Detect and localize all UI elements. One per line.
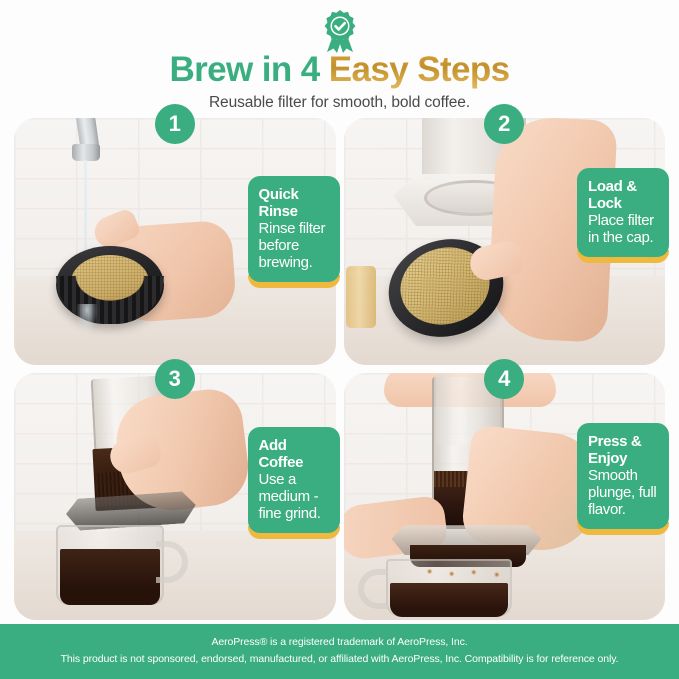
step-caption-4: Press & Enjoy Smooth plunge, full flavor… <box>577 423 669 535</box>
trademark-line: AeroPress® is a registered trademark of … <box>10 634 669 650</box>
caption-body: Rinse filter before brewing. <box>259 221 331 272</box>
coffee-drips <box>420 565 516 581</box>
step-number-badge-2: 2 <box>484 104 524 144</box>
background-jar <box>346 266 376 328</box>
verified-rosette-icon <box>320 8 360 54</box>
header: Brew in 4 Easy Steps Reusable filter for… <box>0 0 679 118</box>
caption-body: Use a medium -fine grind. <box>259 472 331 523</box>
step-card-2: 2 Load & Lock Place filter in the cap. <box>344 118 666 365</box>
caption-title: Press & Enjoy <box>588 434 660 468</box>
step-number-badge-1: 1 <box>155 104 195 144</box>
water-splash <box>76 304 98 334</box>
affiliation-line: This product is not sponsored, endorsed,… <box>10 651 669 667</box>
step-number-badge-3: 3 <box>155 359 195 399</box>
caption-box: Add Coffee Use a medium -fine grind. <box>248 427 340 533</box>
step-card-1: 1 Quick Rinse Rinse filter before brewin… <box>14 118 336 365</box>
step-caption-3: Add Coffee Use a medium -fine grind. <box>248 427 340 539</box>
caption-body: Place filter in the cap. <box>588 213 660 247</box>
caption-title: Load & Lock <box>588 179 660 213</box>
caption-title: Add Coffee <box>259 438 331 472</box>
page-subtitle: Reusable filter for smooth, bold coffee. <box>0 94 679 112</box>
mug-coffee <box>60 549 160 605</box>
step-caption-1: Quick Rinse Rinse filter before brewing. <box>248 176 340 288</box>
caption-title: Quick Rinse <box>259 187 331 221</box>
caption-box: Quick Rinse Rinse filter before brewing. <box>248 176 340 282</box>
footer-disclaimer: AeroPress® is a registered trademark of … <box>0 624 679 679</box>
caption-box: Press & Enjoy Smooth plunge, full flavor… <box>577 423 669 529</box>
title-gold-part: Easy Steps <box>329 50 510 89</box>
step-caption-2: Load & Lock Place filter in the cap. <box>577 168 669 263</box>
step-number-badge-4: 4 <box>484 359 524 399</box>
mug-coffee <box>390 583 508 617</box>
step-card-4: 4 Press & Enjoy Smooth plunge, full flav… <box>344 373 666 620</box>
title-green-part: Brew in 4 <box>169 50 328 89</box>
caption-body: Smooth plunge, full flavor. <box>588 468 660 519</box>
faucet-head <box>72 144 100 161</box>
steps-grid: 1 Quick Rinse Rinse filter before brewin… <box>0 118 679 624</box>
page-title: Brew in 4 Easy Steps <box>0 52 679 87</box>
infographic-root: Brew in 4 Easy Steps Reusable filter for… <box>0 0 679 679</box>
caption-box: Load & Lock Place filter in the cap. <box>577 168 669 257</box>
step-card-3: 3 Add Coffee Use a medium -fine grind. <box>14 373 336 620</box>
